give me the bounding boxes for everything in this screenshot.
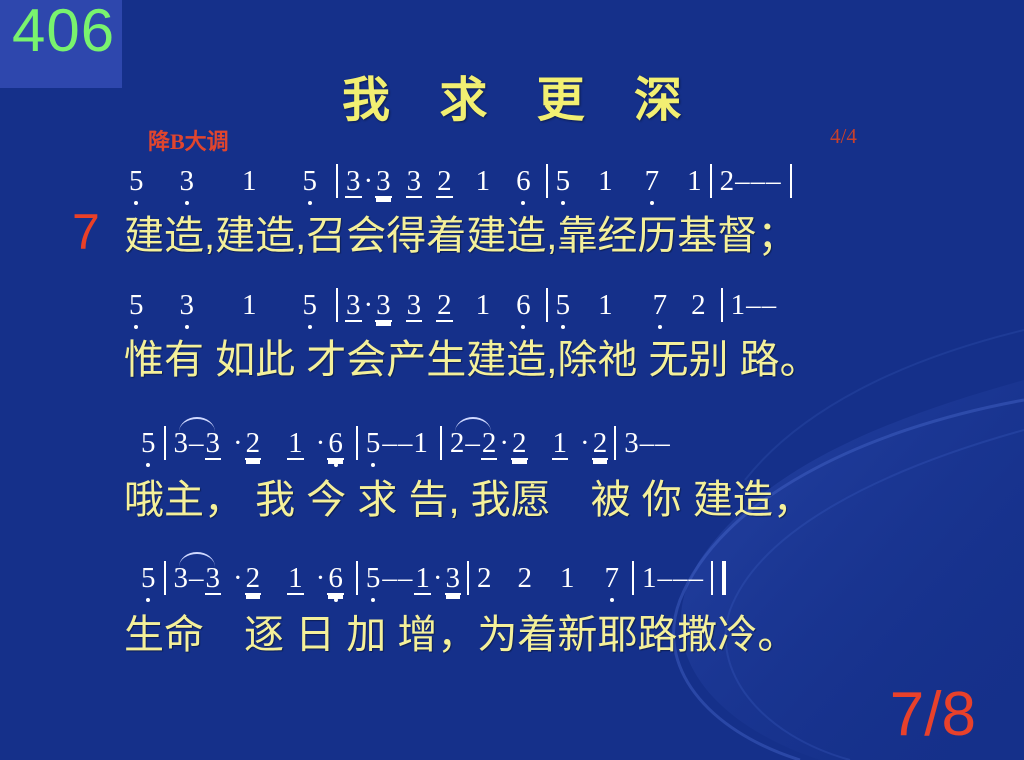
notation-line-2: 53153·3321651721–– bbox=[128, 288, 1024, 332]
lyrics-line-1: 建造,建造,召会得着建造,靠经历基督； bbox=[124, 216, 1024, 256]
stave-line-4: 53–3·21·65––1·322171––– 生命 逐 日 加 增，为着新耶路… bbox=[0, 561, 1024, 655]
notation-line-3: 53–3·21·65––12–2·21·23–– bbox=[140, 426, 1024, 470]
notation-line-4: 53–3·21·65––1·322171––– bbox=[140, 561, 1024, 605]
notation-line-1: 53153·3321651712––– bbox=[128, 164, 1024, 208]
hymn-slide: 406 我 求 更 深 降B大调 4/4 7 53153·3321651712–… bbox=[0, 0, 1024, 760]
stave-line-3: 53–3·21·65––12–2·21·23–– 哦主， 我 今 求 告, 我愿… bbox=[0, 426, 1024, 520]
hymn-number: 406 bbox=[12, 0, 115, 65]
lyrics-line-3: 哦主， 我 今 求 告, 我愿 被 你 建造， bbox=[124, 480, 1024, 520]
key-signature: 降B大调 bbox=[148, 124, 229, 156]
lyrics-line-4: 生命 逐 日 加 增，为着新耶路撒冷。 bbox=[124, 615, 1024, 655]
page-indicator: 7/8 bbox=[890, 679, 976, 750]
stave-line-2: 53153·3321651721–– 惟有 如此 才会产生建造,除祂 无别 路。 bbox=[0, 288, 1024, 380]
page-title: 我 求 更 深 bbox=[0, 60, 1024, 130]
stave-line-1: 53153·3321651712––– 建造,建造,召会得着建造,靠经历基督； bbox=[0, 164, 1024, 256]
lyrics-line-2: 惟有 如此 才会产生建造,除祂 无别 路。 bbox=[124, 340, 1024, 380]
time-signature: 4/4 bbox=[830, 124, 857, 149]
